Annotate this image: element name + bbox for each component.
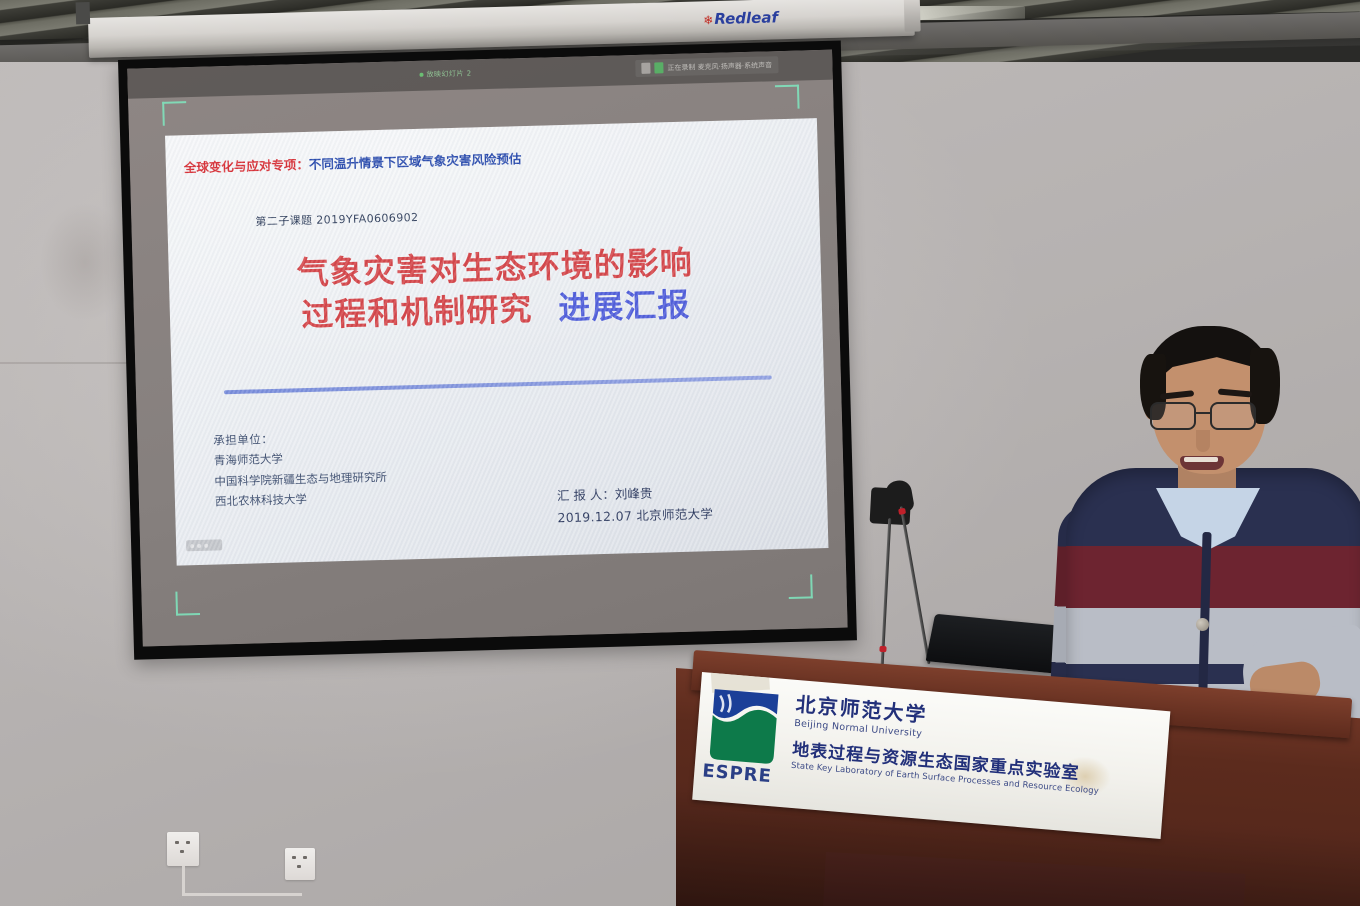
date-venue-line: 2019.12.07 北京师范大学 bbox=[557, 503, 713, 529]
espre-wave-logo-icon bbox=[703, 679, 785, 771]
registration-mark-bottom-left bbox=[175, 591, 200, 616]
title-slide: 全球变化与应对专项：不同温升情景下区域气象灾害风险预估 第二子课题 2019YF… bbox=[165, 118, 828, 565]
registration-mark-bottom-right bbox=[788, 574, 813, 599]
slideshow-status-indicator: 放映幻灯片 2 bbox=[419, 68, 471, 79]
presenter-mouth bbox=[1180, 456, 1224, 470]
housing-bracket bbox=[76, 2, 91, 24]
slide-organizations: 承担单位： 青海师范大学 中国科学院新疆生态与地理研究所 西北农林科技大学 bbox=[213, 426, 388, 513]
slide-title-line-2-blue: 进展汇报 bbox=[558, 286, 691, 328]
wall-socket-right bbox=[285, 848, 315, 880]
wall-socket-left bbox=[167, 832, 199, 866]
recording-status-text: 正在录制 麦克风·扬声器·系统声音 bbox=[667, 60, 772, 73]
wall-cable-left bbox=[182, 866, 185, 896]
eyeglasses-icon bbox=[1148, 402, 1274, 432]
registration-mark-top-right bbox=[775, 85, 800, 110]
kicker-program-name: 全球变化与应对专项： bbox=[184, 157, 309, 175]
housing-end-cap bbox=[904, 0, 921, 32]
slide-divider-rule bbox=[224, 375, 772, 394]
leaf-icon: ❄ bbox=[703, 13, 713, 27]
prev-slide-icon bbox=[190, 544, 194, 548]
slide-main-title: 气象灾害对生态环境的影响 过程和机制研究进展汇报 bbox=[168, 238, 822, 340]
organization-item: 西北农林科技大学 bbox=[215, 487, 388, 512]
projection-surface: 放映幻灯片 2 正在录制 麦克风·扬声器·系统声音 全球变化与应对专项：不同温升… bbox=[127, 50, 847, 647]
redleaf-brand-text: Redleaf bbox=[714, 8, 778, 28]
status-green-icon bbox=[654, 62, 663, 73]
presentation-room-scene: ❄Redleaf 放映幻灯片 2 正在录制 麦克风·扬声器·系统声音 bbox=[0, 0, 1360, 906]
projection-screen-frame: 放映幻灯片 2 正在录制 麦克风·扬声器·系统声音 全球变化与应对专项：不同温升… bbox=[118, 40, 857, 659]
slide-title-line-2-red: 过程和机制研究 bbox=[301, 290, 533, 334]
wall-stain bbox=[40, 202, 130, 322]
microphone-ring bbox=[898, 508, 906, 515]
espre-acronym: ESPRE bbox=[702, 760, 773, 787]
presenter-nose bbox=[1196, 430, 1210, 452]
wall-cable-run bbox=[182, 893, 302, 896]
record-chip-icon bbox=[641, 63, 650, 74]
wall-seam bbox=[0, 362, 140, 364]
podium: ESPRE 北京师范大学 Beijing Normal University 地… bbox=[676, 646, 1360, 906]
slideshow-status-text: 放映幻灯片 2 bbox=[426, 69, 471, 78]
slideshow-control-bar[interactable] bbox=[186, 539, 222, 551]
presenter-button bbox=[1196, 618, 1209, 631]
slide-title-line-1: 气象灾害对生态环境的影响 bbox=[168, 238, 821, 298]
slide-speaker-info: 汇 报 人：刘峰贵 2019.12.07 北京师范大学 bbox=[557, 481, 714, 529]
next-slide-icon bbox=[204, 543, 208, 547]
slide-subproject-code: 第二子课题 2019YFA0606902 bbox=[255, 209, 418, 229]
pointer-icon bbox=[197, 543, 201, 547]
slide-kicker: 全球变化与应对专项：不同温升情景下区域气象灾害风险预估 bbox=[184, 148, 522, 176]
registration-mark-top-left bbox=[162, 101, 187, 126]
status-green-icon bbox=[419, 73, 423, 77]
kicker-project-title: 不同温升情景下区域气象灾害风险预估 bbox=[309, 151, 522, 172]
redleaf-brand-label: ❄Redleaf bbox=[703, 8, 778, 28]
